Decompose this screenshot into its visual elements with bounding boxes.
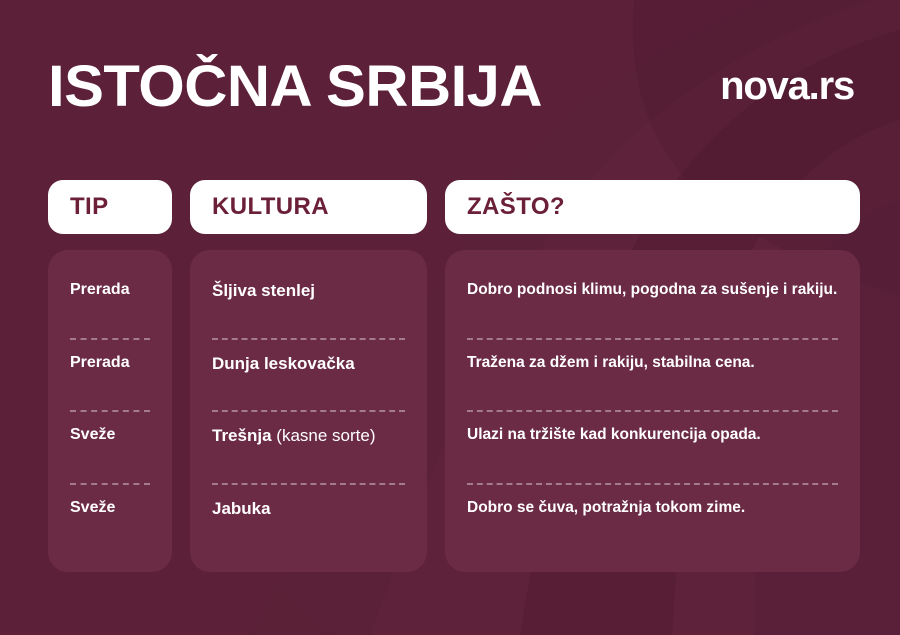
column-header-zasto: ZAŠTO? xyxy=(445,180,860,234)
column-body-kultura: Šljiva stenlej Dunja leskovačka Trešnja … xyxy=(190,250,427,572)
cell-kultura: Dunja leskovačka xyxy=(212,353,355,375)
cell-kultura-name: Dunja leskovačka xyxy=(212,354,355,373)
nova-rs-logo: nova.rs xyxy=(720,66,854,106)
cell-kultura-note: (kasne sorte) xyxy=(276,426,375,445)
column-kultura: KULTURA Šljiva stenlej Dunja leskovačka … xyxy=(190,180,427,572)
cell-tip: Prerada xyxy=(70,353,130,373)
cell-kultura: Trešnja (kasne sorte) xyxy=(212,425,375,447)
table-row: Sveže xyxy=(70,411,150,484)
column-zasto: ZAŠTO? Dobro podnosi klimu, pogodna za s… xyxy=(445,180,860,572)
crops-table: TIP Prerada Prerada Sveže Sveže KULTURA xyxy=(48,180,860,572)
table-row: Dobro se čuva, potražnja tokom zime. xyxy=(467,484,838,557)
table-row: Prerada xyxy=(70,339,150,412)
cell-tip: Sveže xyxy=(70,425,115,445)
column-header-kultura-label: KULTURA xyxy=(212,193,329,221)
cell-zasto: Dobro se čuva, potražnja tokom zime. xyxy=(467,498,745,518)
table-row: Sveže xyxy=(70,484,150,557)
cell-zasto: Dobro podnosi klimu, pogodna za sušenje … xyxy=(467,280,837,300)
table-row: Šljiva stenlej xyxy=(212,266,405,339)
cell-kultura-name: Šljiva stenlej xyxy=(212,281,315,300)
cell-zasto: Ulazi na tržište kad konkurencija opada. xyxy=(467,425,761,445)
table-row: Dobro podnosi klimu, pogodna za sušenje … xyxy=(467,266,838,339)
column-header-zasto-label: ZAŠTO? xyxy=(467,193,565,221)
cell-kultura-name: Trešnja xyxy=(212,426,272,445)
column-body-tip: Prerada Prerada Sveže Sveže xyxy=(48,250,172,572)
page-title: ISTOČNA SRBIJA xyxy=(48,58,542,116)
table-row: Prerada xyxy=(70,266,150,339)
table-row: Dunja leskovačka xyxy=(212,339,405,412)
column-header-tip-label: TIP xyxy=(70,193,109,221)
table-row: Tražena za džem i rakiju, stabilna cena. xyxy=(467,339,838,412)
cell-kultura-name: Jabuka xyxy=(212,499,271,518)
cell-tip: Sveže xyxy=(70,498,115,518)
column-body-zasto: Dobro podnosi klimu, pogodna za sušenje … xyxy=(445,250,860,572)
table-row: Ulazi na tržište kad konkurencija opada. xyxy=(467,411,838,484)
header: ISTOČNA SRBIJA nova.rs xyxy=(0,0,900,165)
table-row: Trešnja (kasne sorte) xyxy=(212,411,405,484)
column-header-kultura: KULTURA xyxy=(190,180,427,234)
column-tip: TIP Prerada Prerada Sveže Sveže xyxy=(48,180,172,572)
cell-zasto: Tražena za džem i rakiju, stabilna cena. xyxy=(467,353,755,373)
cell-kultura: Šljiva stenlej xyxy=(212,280,315,302)
table-row: Jabuka xyxy=(212,484,405,557)
column-header-tip: TIP xyxy=(48,180,172,234)
cell-tip: Prerada xyxy=(70,280,130,300)
cell-kultura: Jabuka xyxy=(212,498,271,520)
